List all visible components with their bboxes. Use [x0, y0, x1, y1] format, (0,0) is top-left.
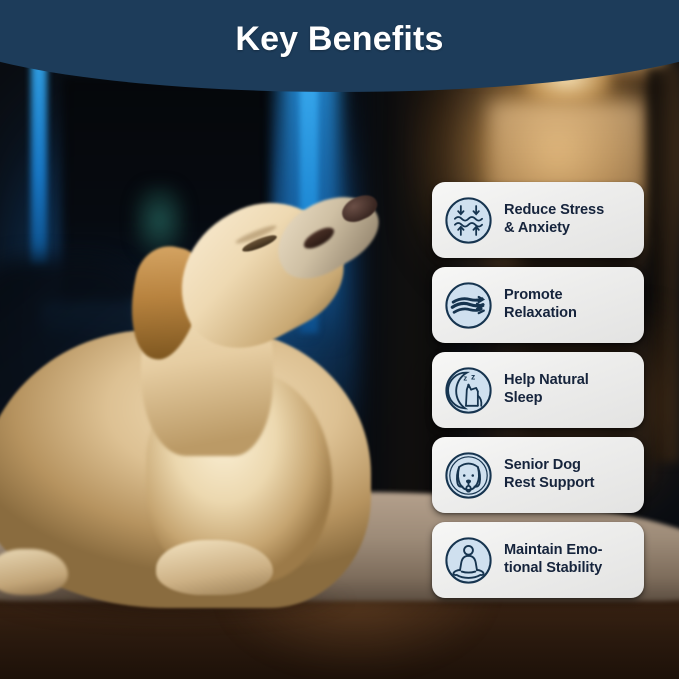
labrador-dog	[0, 204, 469, 625]
benefit-label: Help Natural Sleep	[504, 372, 589, 408]
benefit-card-reduce-stress[interactable]: Reduce Stress & Anxiety	[432, 182, 644, 258]
svg-text:z: z	[463, 373, 467, 382]
benefit-card-emotional-stability[interactable]: Maintain Emo- tional Stability	[432, 522, 644, 598]
benefits-list: Reduce Stress & Anxiety Promote Relaxati…	[432, 182, 644, 598]
stress-waves-icon	[443, 195, 494, 246]
benefit-label-line2: Sleep	[504, 390, 542, 406]
benefit-card-senior-dog-rest[interactable]: Senior Dog Rest Support	[432, 437, 644, 513]
benefit-label-line1: Maintain Emo-	[504, 542, 602, 558]
benefit-card-promote-relaxation[interactable]: Promote Relaxation	[432, 267, 644, 343]
benefit-label: Maintain Emo- tional Stability	[504, 542, 602, 578]
benefit-label-line1: Reduce Stress	[504, 202, 604, 218]
benefit-label-line1: Promote	[504, 287, 563, 303]
benefit-label-line2: tional Stability	[504, 560, 602, 576]
benefit-card-help-natural-sleep[interactable]: z z z Help Natural Sleep	[432, 352, 644, 428]
dog-paw-front	[156, 540, 273, 595]
benefit-label-line2: Relaxation	[504, 305, 577, 321]
benefit-label-line1: Help Natural	[504, 372, 589, 388]
sleeping-dog-moon-icon: z z z	[443, 365, 494, 416]
benefit-label-line1: Senior Dog	[504, 457, 581, 473]
relaxation-breeze-icon	[443, 280, 494, 331]
benefit-label-line2: Rest Support	[504, 475, 594, 491]
benefit-label: Promote Relaxation	[504, 287, 577, 323]
benefit-label: Reduce Stress & Anxiety	[504, 202, 604, 238]
benefit-label: Senior Dog Rest Support	[504, 457, 594, 493]
header-banner: Key Benefits	[0, 0, 679, 96]
meditation-lotus-icon	[443, 535, 494, 586]
svg-text:z: z	[471, 371, 475, 381]
dog-face-icon	[443, 450, 494, 501]
page-title: Key Benefits	[0, 20, 679, 59]
benefit-label-line2: & Anxiety	[504, 220, 570, 236]
